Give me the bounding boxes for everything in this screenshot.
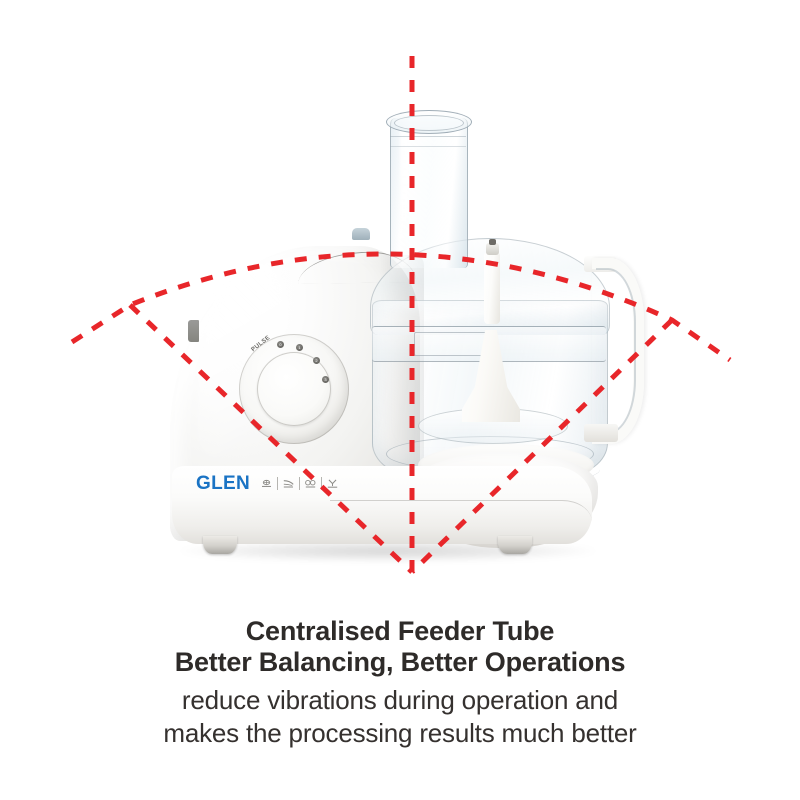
caption-block: Centralised Feeder Tube Better Balancing… [0,600,800,750]
shredding-disc-icon [303,476,318,492]
product-feature-graphic: PULSE 0 1 2 3 [0,0,800,800]
function-icon-row [259,476,340,492]
rubber-foot-left [203,536,237,554]
chopping-blade-icon [325,476,340,492]
handle-bottom-mount [584,424,618,442]
blade-spindle [484,252,500,324]
knob-setting-0[interactable]: 0 [277,341,284,348]
feeder-tube-opening [394,115,464,131]
spindle-cap-screw [489,239,496,245]
knob-setting-1[interactable]: 1 [296,344,303,351]
caption-headline-2: Better Balancing, Better Operations [0,647,800,678]
caption-subtext-1: reduce vibrations during operation and [0,678,800,717]
product-photo: PULSE 0 1 2 3 [0,0,800,600]
icon-divider-2 [299,477,300,490]
caption-headline-1: Centralised Feeder Tube [0,600,800,647]
speed-knob-dial[interactable] [257,352,331,426]
icon-divider-3 [321,477,322,490]
base-ridge-line [330,500,592,523]
knob-setting-3[interactable]: 3 [322,376,329,383]
icon-divider-1 [277,477,278,490]
brand-lockup: GLEN [196,474,340,493]
lid-collar-notch [414,332,492,356]
feeder-tube-highlight [400,126,408,266]
caption-subtext-2: makes the processing results much better [0,717,800,750]
knob-setting-2[interactable]: 2 [313,357,320,364]
lid-latch-tab [352,228,370,240]
brand-name: GLEN [196,474,250,493]
vent-tab-icon [188,320,199,342]
whisk-icon [259,476,274,492]
rubber-foot-right [498,536,532,554]
feeder-tube-band [390,136,466,147]
bowl-handle-inner-edge [596,268,636,434]
slicing-blade-icon [281,476,296,492]
